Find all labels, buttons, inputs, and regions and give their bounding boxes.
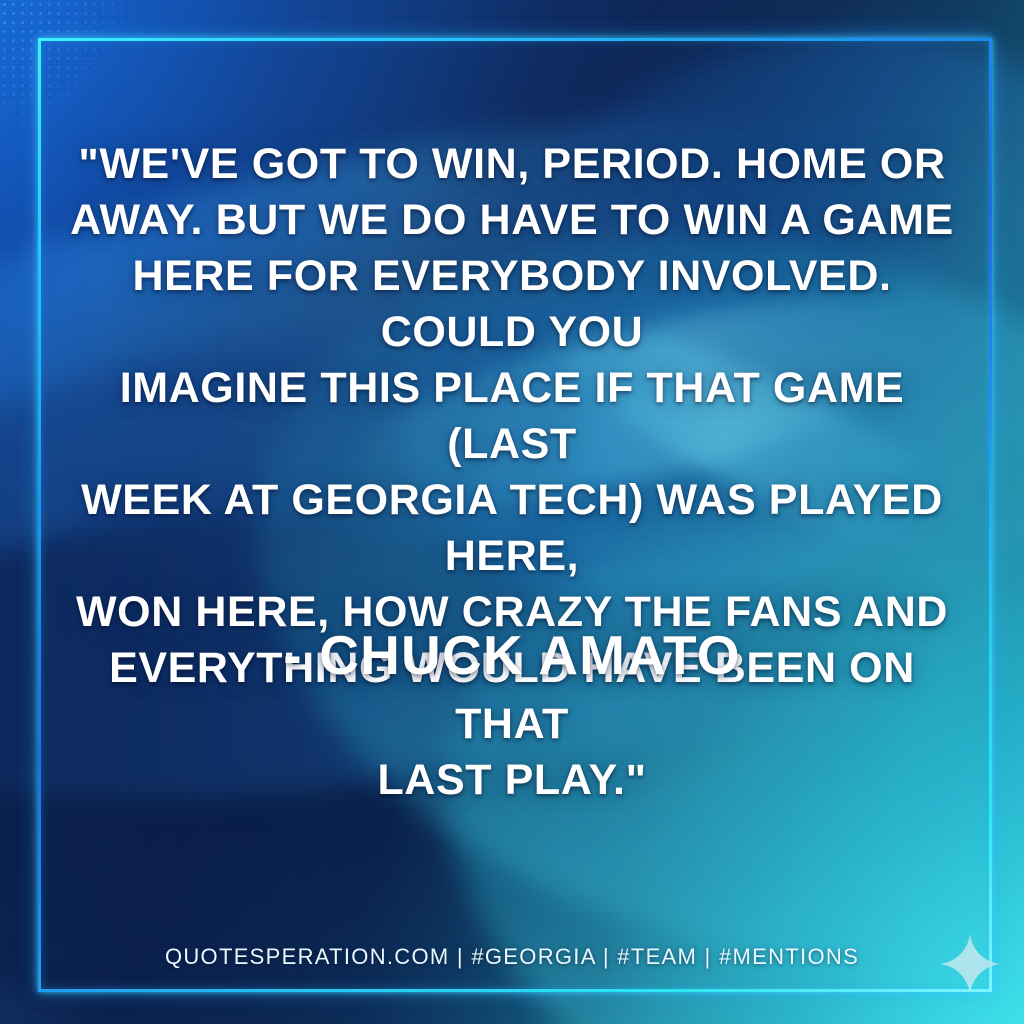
neon-frame-border (38, 38, 992, 992)
background-streak-1 (321, 257, 959, 553)
background-gradient (0, 0, 1024, 1024)
quote-card: "WE'VE GOT TO WIN, PERIOD. HOME OR AWAY.… (0, 0, 1024, 1024)
background-streak-2 (522, 282, 1024, 609)
quote-text: "WE'VE GOT TO WIN, PERIOD. HOME OR AWAY.… (62, 136, 962, 808)
footer-credits: QUOTESPERATION.COM | #GEORGIA | #TEAM | … (0, 944, 1024, 970)
card-content: "WE'VE GOT TO WIN, PERIOD. HOME OR AWAY.… (0, 0, 1024, 1024)
halftone-dots-pattern (0, 0, 130, 130)
background-wave-5 (304, 0, 1024, 720)
background-wave-6 (0, 469, 825, 1024)
background-wave-1 (0, 13, 1024, 908)
background-wave-4 (347, 414, 1024, 1024)
background-glow-top-left (0, 0, 1024, 1024)
neon-frame-glow (35, 35, 991, 991)
quote-attribution: - CHUCK AMATO (0, 624, 1024, 686)
background-dark-core (0, 0, 1024, 1024)
background-wave-3 (181, 133, 1024, 1024)
background-glow-bottom-right (0, 0, 1024, 1024)
background-wave-2 (0, 212, 1024, 859)
background-grain (0, 0, 1024, 1024)
sparkle-icon (938, 932, 1002, 996)
